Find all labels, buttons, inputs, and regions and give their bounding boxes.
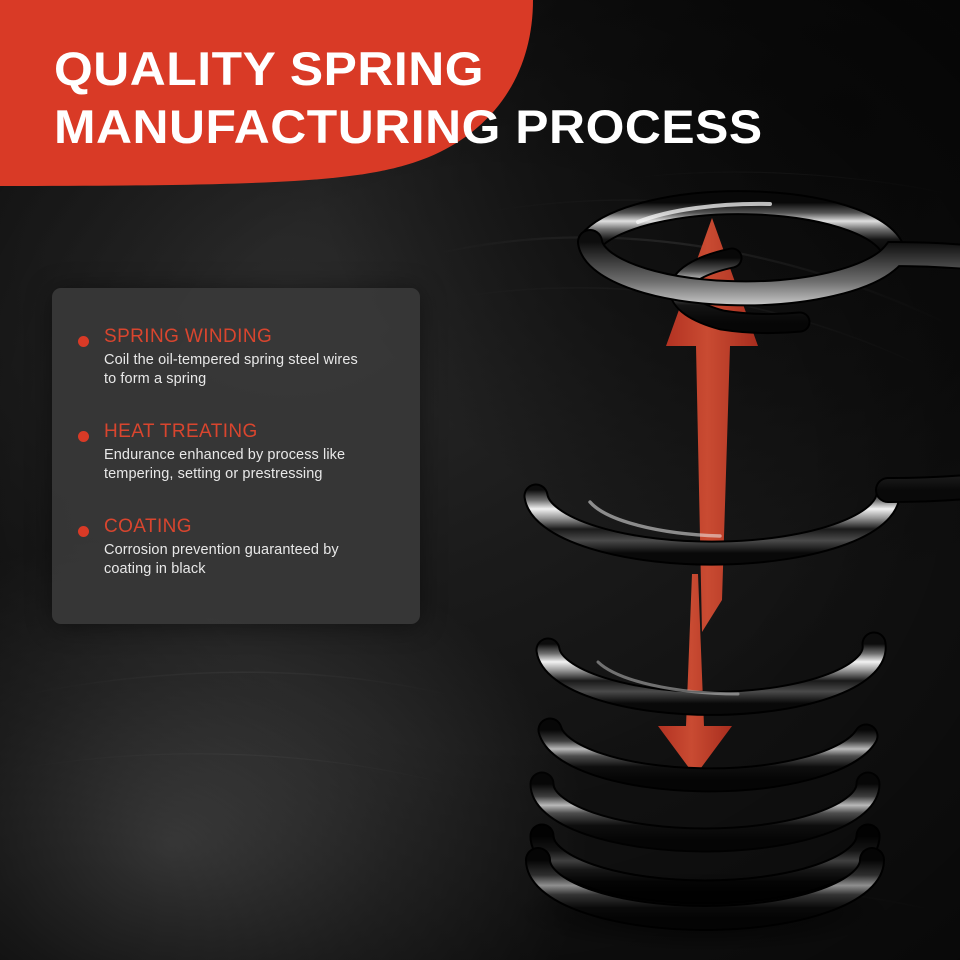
coil-spring-illustration xyxy=(470,170,960,960)
process-steps-list: SPRING WINDING Coil the oil-tempered spr… xyxy=(52,288,420,579)
step-description: Endurance enhanced by process like tempe… xyxy=(104,446,402,484)
step-title: COATING xyxy=(104,516,402,538)
step-title: SPRING WINDING xyxy=(104,326,402,348)
title-line-2: MANUFACTURING PROCESS xyxy=(54,98,860,156)
bullet-dot-icon xyxy=(78,526,89,537)
bullet-dot-icon xyxy=(78,431,89,442)
process-step-coating: COATING Corrosion prevention guaranteed … xyxy=(52,516,420,579)
step-title: HEAT TREATING xyxy=(104,421,402,443)
step-description: Corrosion prevention guaranteed by coati… xyxy=(104,541,402,579)
process-step-heat-treating: HEAT TREATING Endurance enhanced by proc… xyxy=(52,421,420,484)
process-step-spring-winding: SPRING WINDING Coil the oil-tempered spr… xyxy=(52,326,420,389)
page-title: QUALITY SPRING MANUFACTURING PROCESS xyxy=(54,40,814,156)
title-line-1: QUALITY SPRING xyxy=(54,40,860,98)
bullet-dot-icon xyxy=(78,336,89,347)
infographic-canvas: QUALITY SPRING MANUFACTURING PROCESS xyxy=(0,0,960,960)
step-description: Coil the oil-tempered spring steel wires… xyxy=(104,351,402,389)
compression-arrow-down xyxy=(658,574,732,776)
process-steps-panel: SPRING WINDING Coil the oil-tempered spr… xyxy=(52,288,420,624)
